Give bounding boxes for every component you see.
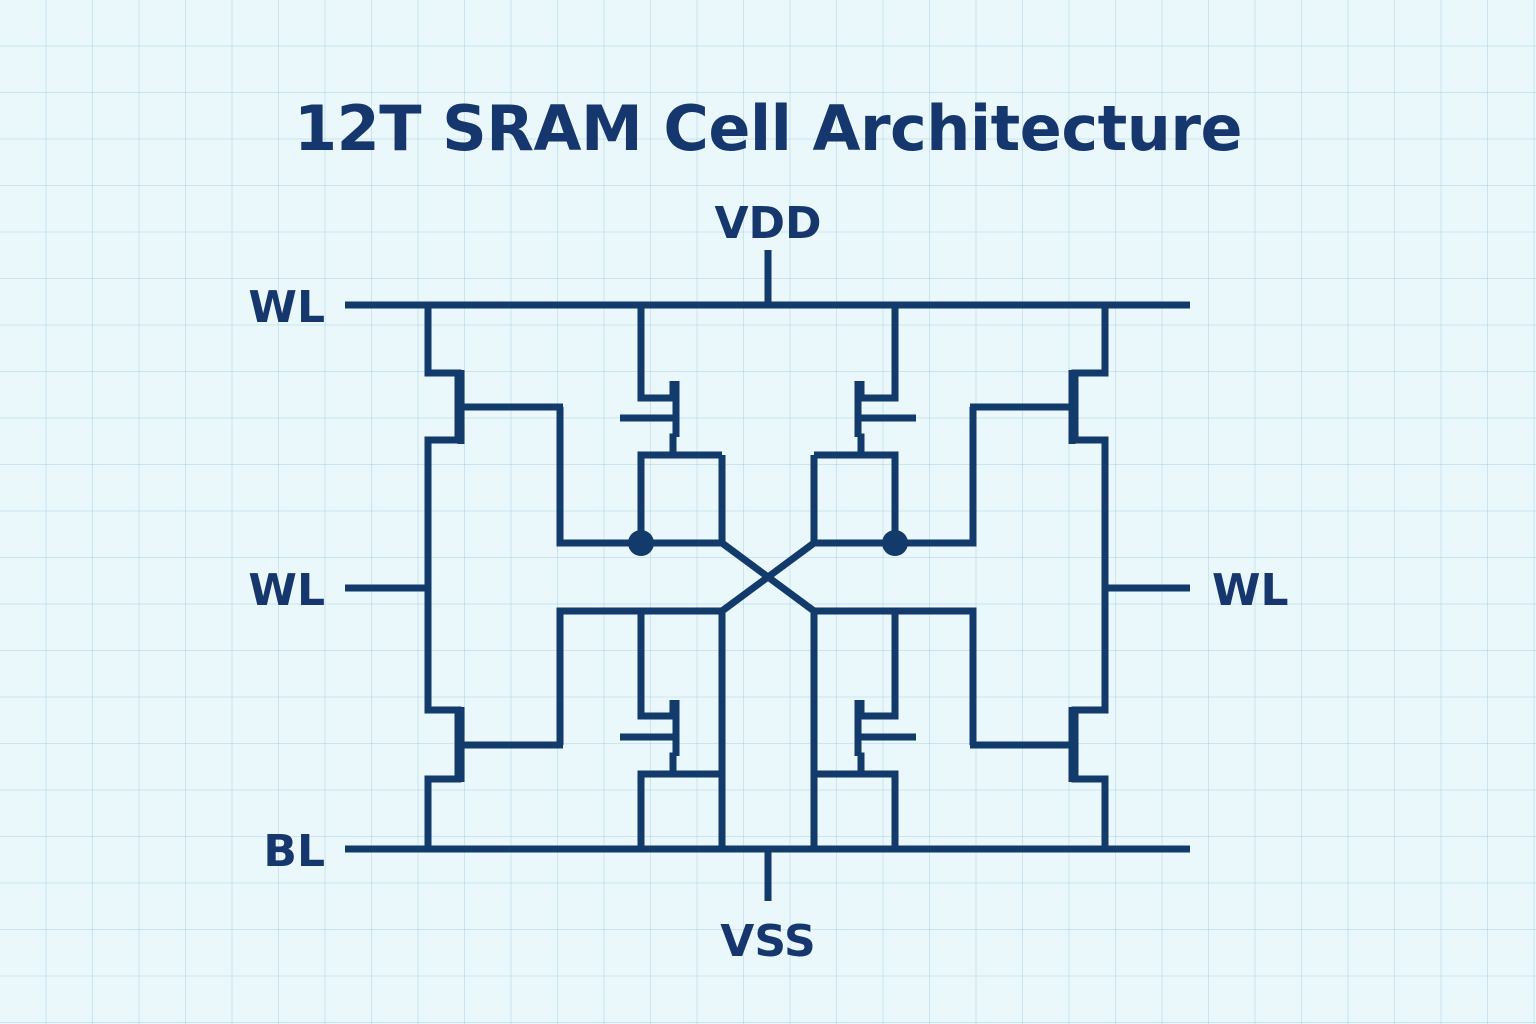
m5-pullup-right-source-stem xyxy=(858,437,895,543)
m6-pulldown-right-source-stem xyxy=(858,756,895,849)
bl-label: BL xyxy=(263,826,325,877)
cross-coupled-x xyxy=(722,543,814,611)
m7-m8-right-spine xyxy=(1075,305,1105,849)
wl-left-top-label: WL xyxy=(248,282,325,333)
m1-m2-left-spine xyxy=(428,305,458,849)
node-q-dot xyxy=(628,530,654,556)
m4-pulldown-left-drain-stem xyxy=(641,611,673,716)
left-access-column xyxy=(428,305,641,849)
m2-gate-to-lower-rail-wire xyxy=(560,611,641,745)
right-access-column xyxy=(895,305,1105,849)
diagram-canvas: 12T SRAM Cell Architecture VDD VSS WL WL… xyxy=(0,0,1536,1024)
m7-gate-to-node-qbar-wire xyxy=(895,407,973,543)
left-inverter xyxy=(620,305,722,849)
right-inverter xyxy=(814,305,916,849)
m3-pullup-left-drain-stem xyxy=(641,305,673,398)
m8-gate-to-lower-rail-wire xyxy=(895,611,973,745)
m6-pulldown-right-drain-stem xyxy=(861,611,895,716)
vdd-label: VDD xyxy=(714,198,821,249)
wl-left-mid-label: WL xyxy=(248,565,325,616)
m4-pulldown-left-source-stem xyxy=(641,756,676,849)
vss-label: VSS xyxy=(720,916,815,967)
wl-right-mid-label: WL xyxy=(1212,565,1289,616)
m3-pullup-left-source-stem xyxy=(641,437,676,543)
m1-gate-to-node-q-wire xyxy=(560,407,641,543)
page-title: 12T SRAM Cell Architecture xyxy=(294,92,1242,165)
m5-pullup-right-drain-stem xyxy=(861,305,895,398)
node-qbar-dot xyxy=(882,530,908,556)
sram-schematic-svg: 12T SRAM Cell Architecture VDD VSS WL WL… xyxy=(0,0,1536,1024)
